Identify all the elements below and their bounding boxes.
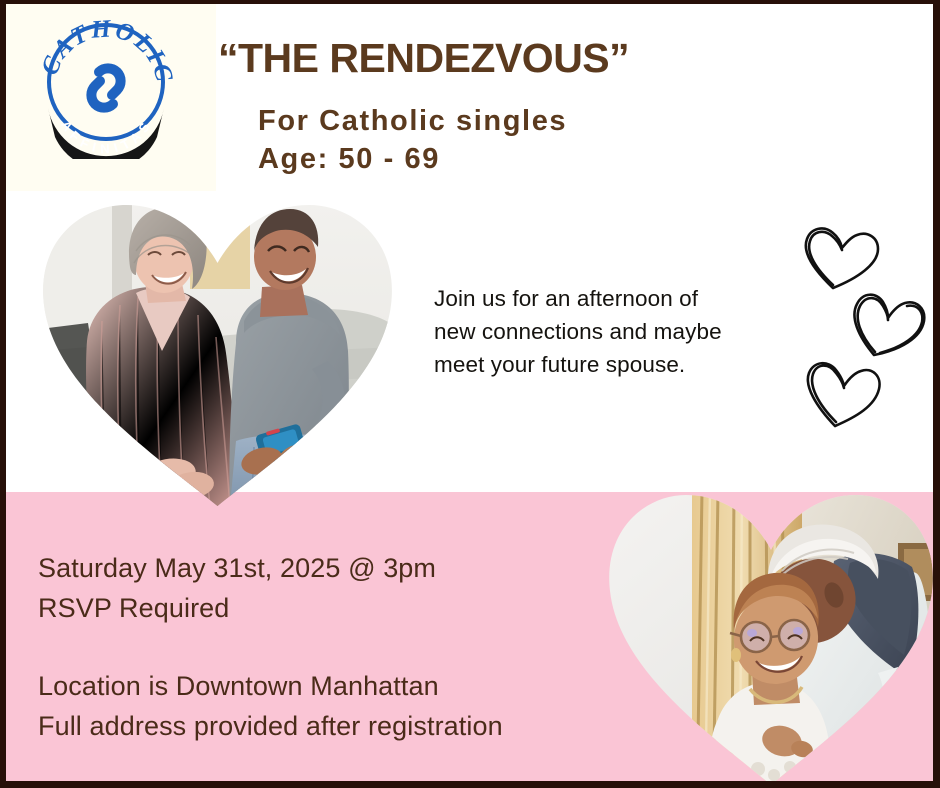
event-details: Saturday May 31st, 2025 @ 3pm RSVP Requi… bbox=[38, 548, 503, 746]
event-address-note: Full address provided after registration bbox=[38, 706, 503, 746]
blurb-line-2: new connections and maybe bbox=[434, 315, 814, 348]
flyer-subtitle-audience: For Catholic singles bbox=[258, 105, 567, 138]
details-spacer bbox=[38, 628, 503, 666]
blurb-line-3: meet your future spouse. bbox=[434, 348, 814, 381]
hand-drawn-hearts-icon bbox=[788, 216, 938, 444]
heart-photo-couple-on-couch bbox=[40, 201, 395, 506]
svg-text:CATHOLIC: CATHOLIC bbox=[36, 15, 176, 86]
flyer-title: “THE RENDEZVOUS” bbox=[218, 35, 629, 82]
catholic-affinitas-logo-icon: CATHOLIC AFFINITAS bbox=[36, 14, 176, 159]
flyer-subtitle-age-range: Age: 50 - 69 bbox=[258, 143, 440, 176]
event-flyer: CATHOLIC AFFINITAS “THE RENDEZVOUS” For … bbox=[0, 0, 940, 788]
event-rsvp-note: RSVP Required bbox=[38, 588, 503, 628]
blurb-line-1: Join us for an afternoon of bbox=[434, 282, 814, 315]
event-location: Location is Downtown Manhattan bbox=[38, 666, 503, 706]
flyer-blurb: Join us for an afternoon of new connecti… bbox=[434, 282, 814, 381]
event-date-time: Saturday May 31st, 2025 @ 3pm bbox=[38, 548, 503, 588]
heart-photo-couple-embracing bbox=[606, 491, 936, 785]
